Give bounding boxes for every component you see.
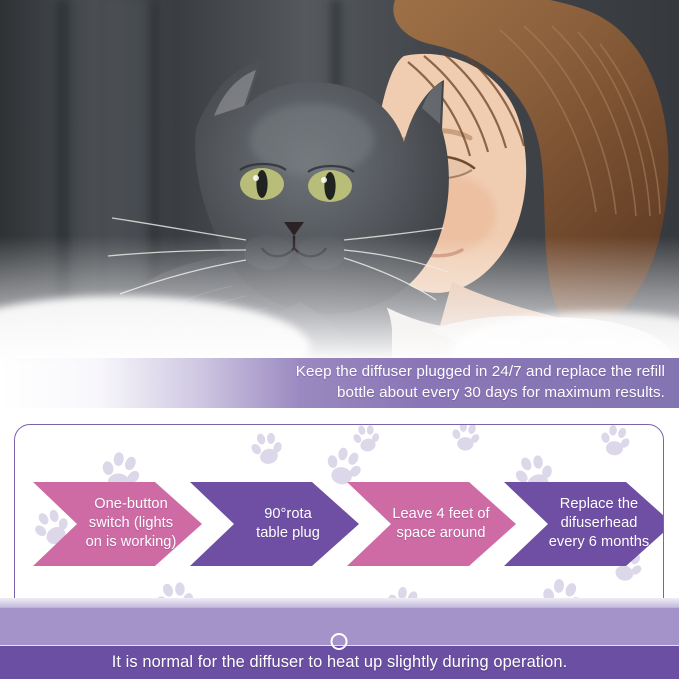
- process-arrow-1[interactable]: [33, 482, 202, 566]
- footer-note-text: It is normal for the diffuser to heat up…: [112, 653, 568, 672]
- footer-note-bar: It is normal for the diffuser to heat up…: [0, 645, 679, 679]
- process-arrows: [15, 425, 664, 622]
- hero-photo: [0, 0, 679, 362]
- process-arrow-3[interactable]: [347, 482, 516, 566]
- caption-text: Keep the diffuser plugged in 24/7 and re…: [296, 362, 679, 404]
- caption-banner: Keep the diffuser plugged in 24/7 and re…: [0, 358, 679, 408]
- process-arrow-4[interactable]: [504, 482, 664, 566]
- caption-line-2: bottle about every 30 days for maximum r…: [337, 384, 665, 401]
- caption-line-1: Keep the diffuser plugged in 24/7 and re…: [296, 363, 665, 380]
- process-arrow-2[interactable]: [190, 482, 359, 566]
- process-arrow-row: One-button switch (lights on is working)…: [15, 425, 663, 621]
- steps-panel: One-button switch (lights on is working)…: [14, 424, 664, 622]
- hero-photo-illustration: [0, 0, 679, 362]
- circle-marker: [331, 633, 348, 650]
